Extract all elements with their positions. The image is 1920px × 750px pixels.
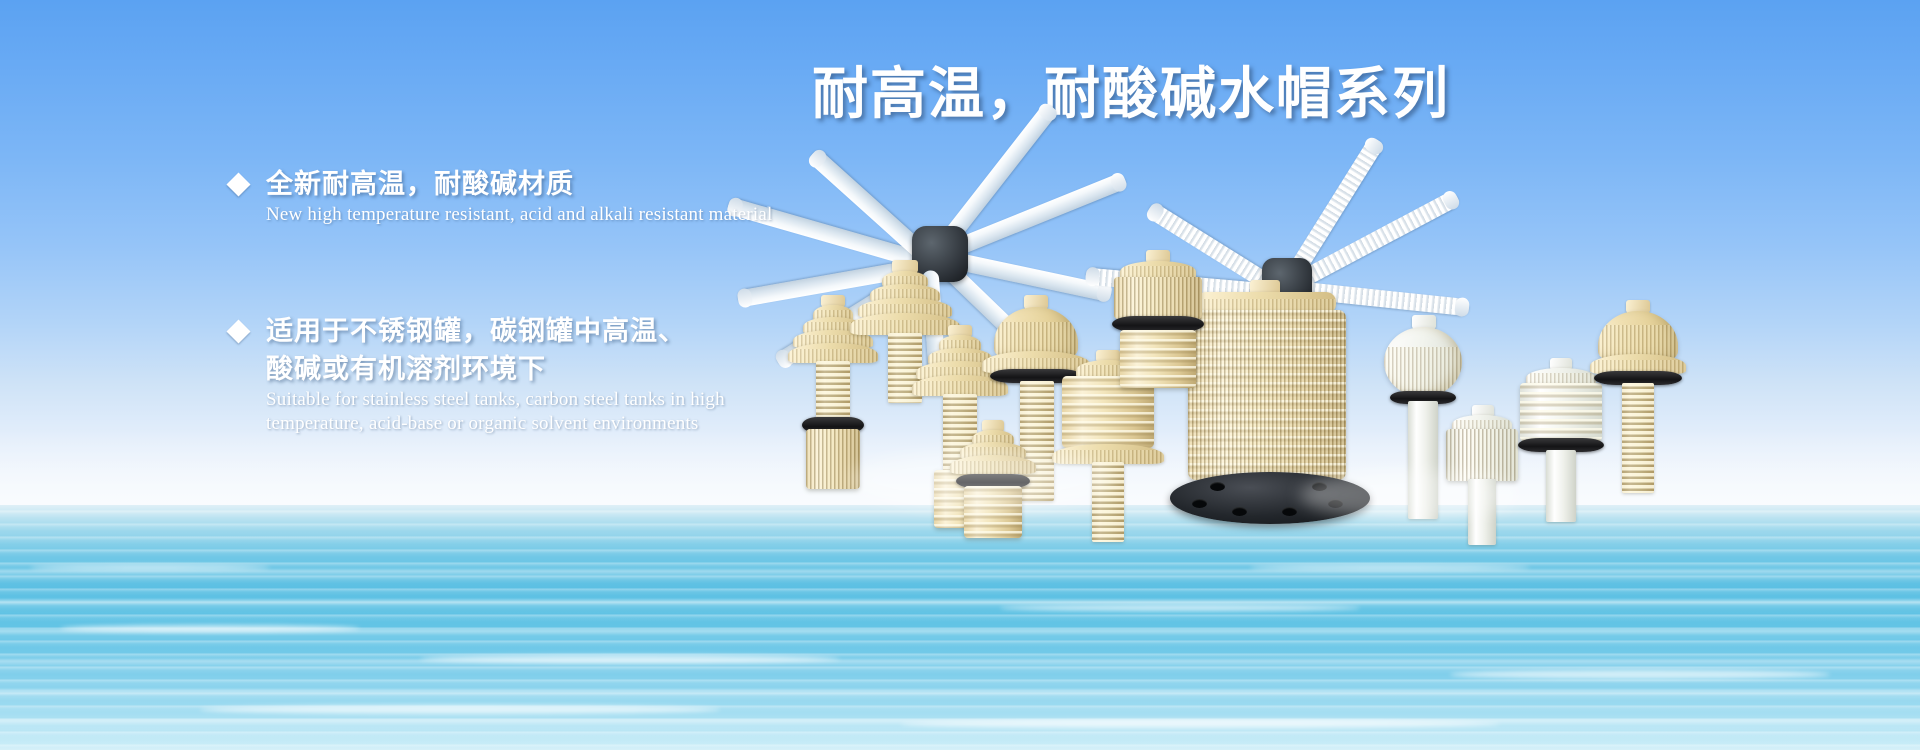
feature-2-cn-line-1: 适用于不锈钢罐，碳钢罐中高温、 [266,312,686,350]
feature-2-cn-line-2: 酸碱或有机溶剂环境下 [266,350,686,388]
diamond-bullet-icon [226,172,250,196]
feature-1-cn-line-1: 全新耐高温，耐酸碱材质 [266,165,574,203]
beige-ribbed-dome-nozzle [1590,300,1686,500]
feature-block-1: 全新耐高温，耐酸碱材质 New high temperature resista… [230,165,950,227]
feature-block-2: 适用于不锈钢罐，碳钢罐中高温、 酸碱或有机溶剂环境下 Suitable for … [230,312,990,436]
feature-2-en-line-2: temperature, acid-base or organic solven… [266,412,990,436]
feature-2-en-line-1: Suitable for stainless steel tanks, carb… [266,388,990,412]
banner-title: 耐高温，耐酸碱水帽系列 [812,60,1450,127]
diamond-bullet-icon [226,319,250,343]
water-background [0,505,1920,750]
feature-1-en-line-1: New high temperature resistant, acid and… [266,203,950,227]
product-banner: 耐高温，耐酸碱水帽系列 [0,0,1920,750]
beige-stacked-disc-filter [1112,250,1204,430]
